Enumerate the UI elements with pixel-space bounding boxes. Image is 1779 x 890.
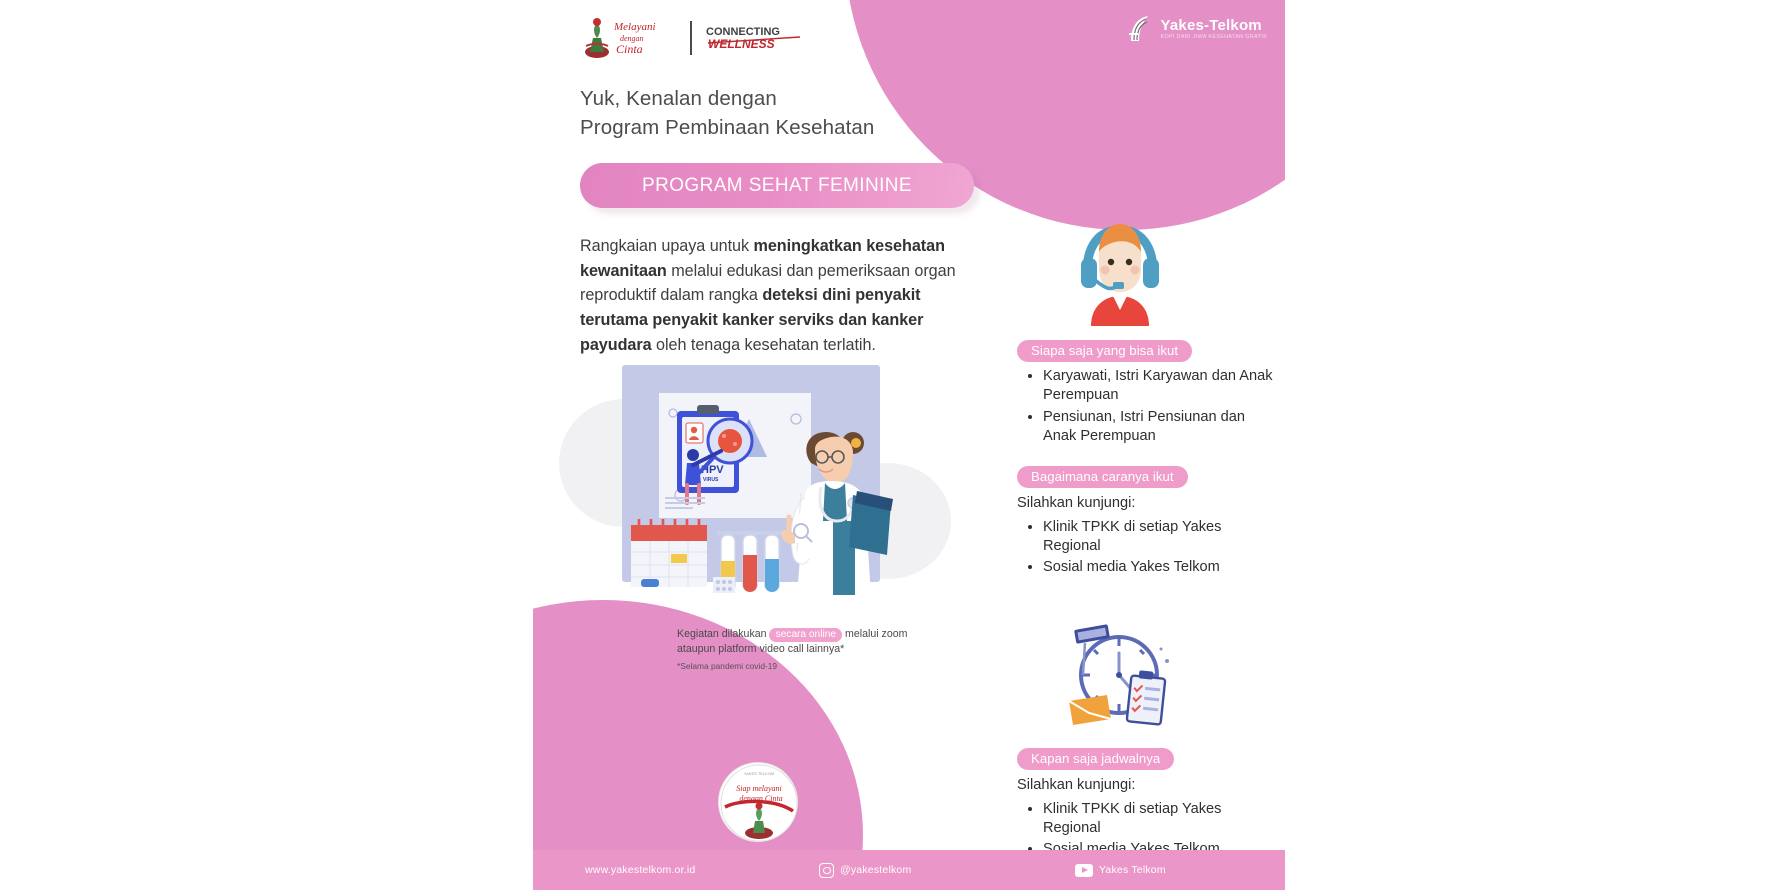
svg-text:Melayani: Melayani bbox=[613, 21, 656, 33]
section-kapan-saja-lead: Silahkan kunjungi: bbox=[1017, 776, 1275, 795]
headline-line-1: Yuk, Kenalan dengan bbox=[580, 84, 874, 113]
badge-line-1: Siap melayani bbox=[736, 784, 782, 793]
customer-service-avatar-icon bbox=[1065, 208, 1175, 326]
badge-artwork-icon: YAKES TELKOM Siap melayani dengan Cinta bbox=[719, 763, 798, 842]
schedule-clock-illustration-icon bbox=[1063, 613, 1183, 731]
footer-bar: www.yakestelkom.or.id @yakestelkom Yakes… bbox=[533, 850, 1285, 890]
footer-youtube[interactable]: Yakes Telkom bbox=[1075, 864, 1166, 877]
caption-part-1: Kegiatan dilakukan bbox=[677, 628, 769, 640]
section-bagaimana-caranya-heading: Bagaimana caranya ikut bbox=[1017, 466, 1188, 488]
caption-footnote: *Selama pandemi covid-19 bbox=[677, 661, 927, 673]
program-badge-label: PROGRAM SEHAT FEMININE bbox=[642, 175, 912, 197]
footer-instagram-text: @yakestelkom bbox=[840, 864, 911, 876]
section-bagaimana-caranya-lead: Silahkan kunjungi: bbox=[1017, 494, 1275, 513]
connecting-wellness-logo-icon: CONNECTING WELLNESS bbox=[706, 23, 802, 53]
program-badge: PROGRAM SEHAT FEMININE bbox=[580, 163, 974, 208]
section-bagaimana-caranya: Bagaimana caranya ikut Silahkan kunjungi… bbox=[1017, 466, 1275, 580]
online-activity-caption: Kegiatan dilakukan secara online melalui… bbox=[677, 627, 927, 672]
illustration-artwork: HPV VIRUS bbox=[553, 345, 973, 615]
hpv-screening-illustration: HPV VIRUS bbox=[553, 345, 973, 615]
footer-website-text: www.yakestelkom.or.id bbox=[585, 864, 695, 876]
svg-text:Cinta: Cinta bbox=[616, 42, 643, 56]
section-siapa-saja: Siapa saja yang bisa ikut Karyawati, Ist… bbox=[1017, 340, 1275, 448]
right-margin bbox=[1285, 0, 1779, 890]
headline-line-2: Program Pembinaan Kesehatan bbox=[580, 113, 874, 142]
youtube-icon bbox=[1075, 864, 1093, 877]
page-title: Yuk, Kenalan dengan Program Pembinaan Ke… bbox=[580, 84, 874, 142]
virus-label: VIRUS bbox=[703, 477, 719, 483]
section-bagaimana-caranya-list: Klinik TPKK di setiap Yakes Regional Sos… bbox=[1017, 518, 1275, 578]
section-siapa-saja-heading: Siapa saja yang bisa ikut bbox=[1017, 340, 1192, 362]
info-column: Siapa saja yang bisa ikut Karyawati, Ist… bbox=[1003, 0, 1285, 890]
program-description: Rangkaian upaya untuk meningkatkan keseh… bbox=[580, 234, 990, 357]
brand-logo-group: Melayani dengan Cinta CONNECTING WELLNES… bbox=[580, 16, 802, 60]
left-margin bbox=[0, 0, 534, 890]
instagram-icon bbox=[819, 863, 834, 878]
poster-canvas: Melayani dengan Cinta CONNECTING WELLNES… bbox=[0, 0, 1779, 890]
list-item: Sosial media Yakes Telkom bbox=[1043, 558, 1275, 577]
footer-website[interactable]: www.yakestelkom.or.id bbox=[585, 864, 695, 876]
siap-melayani-badge: YAKES TELKOM Siap melayani dengan Cinta bbox=[718, 762, 798, 842]
section-kapan-saja-heading: Kapan saja jadwalnya bbox=[1017, 748, 1174, 770]
section-kapan-saja: Kapan saja jadwalnya Silahkan kunjungi: … bbox=[1017, 748, 1275, 862]
list-item: Karyawati, Istri Karyawan dan Anak Perem… bbox=[1043, 367, 1275, 406]
list-item: Klinik TPKK di setiap Yakes Regional bbox=[1043, 800, 1275, 839]
desc-part-1: Rangkaian upaya untuk bbox=[580, 237, 754, 255]
melayani-dengan-cinta-logo-icon: Melayani dengan Cinta bbox=[580, 16, 676, 60]
logo-divider bbox=[690, 21, 692, 55]
list-item: Klinik TPKK di setiap Yakes Regional bbox=[1043, 518, 1275, 557]
section-siapa-saja-list: Karyawati, Istri Karyawan dan Anak Perem… bbox=[1017, 367, 1275, 446]
caption-highlight: secara online bbox=[769, 628, 842, 642]
footer-youtube-text: Yakes Telkom bbox=[1099, 864, 1166, 876]
poster: Melayani dengan Cinta CONNECTING WELLNES… bbox=[533, 0, 1285, 890]
program-badge-wrapper: PROGRAM SEHAT FEMININE bbox=[580, 163, 974, 208]
footer-instagram[interactable]: @yakestelkom bbox=[819, 863, 911, 878]
svg-text:YAKES TELKOM: YAKES TELKOM bbox=[744, 771, 775, 776]
list-item: Pensiunan, Istri Pensiunan dan Anak Pere… bbox=[1043, 408, 1275, 447]
